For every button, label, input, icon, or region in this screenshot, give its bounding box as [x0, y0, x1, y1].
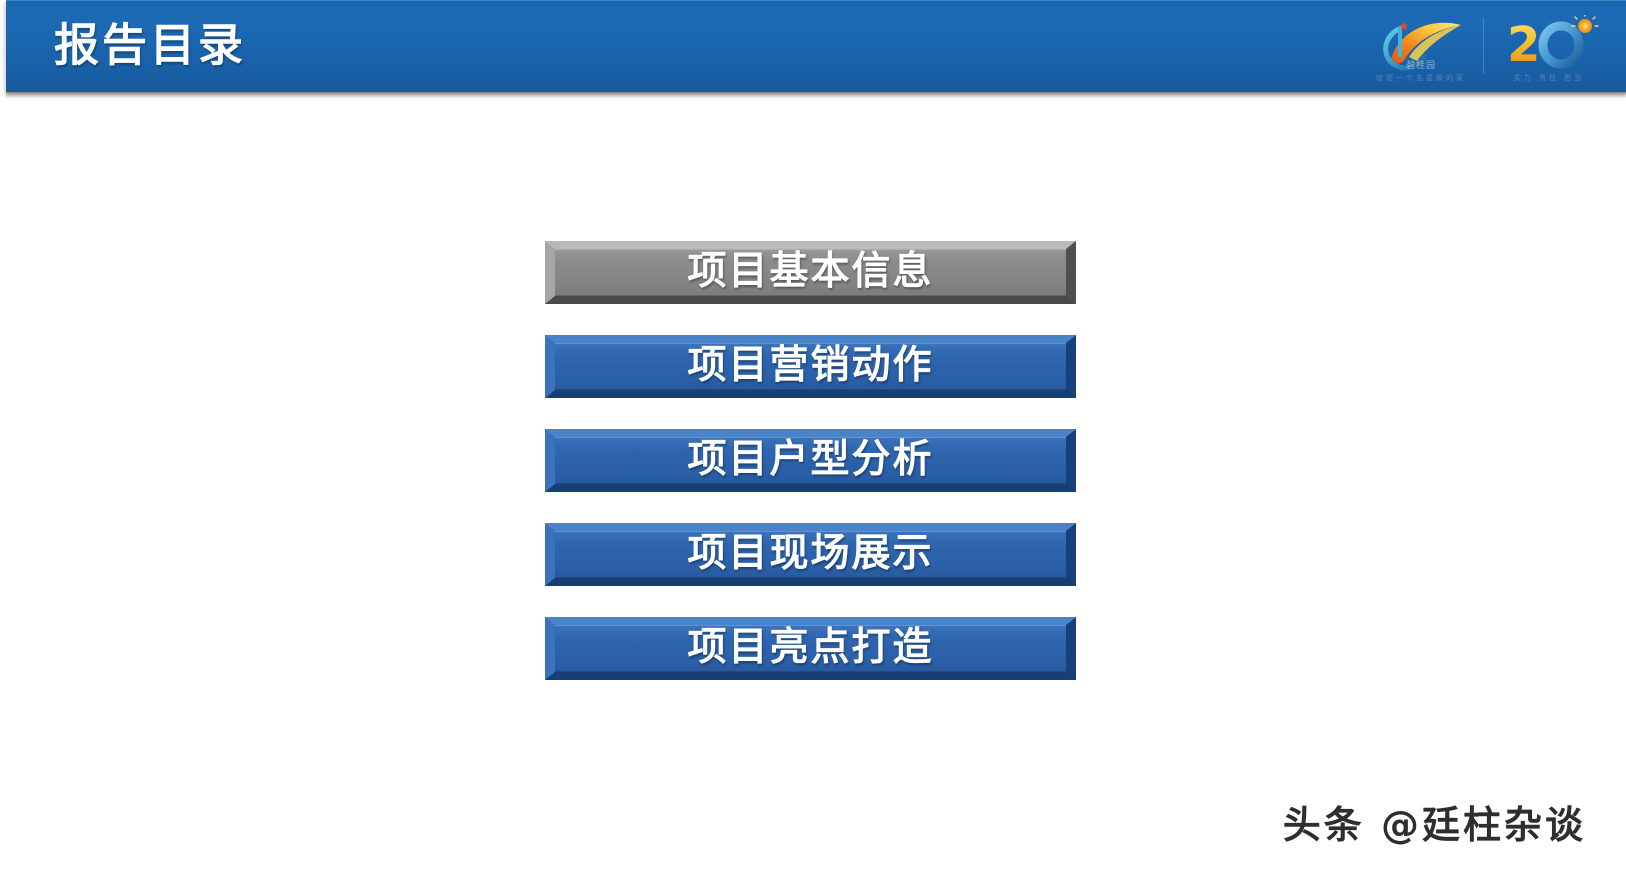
logo-divider	[1483, 18, 1484, 74]
anniversary-20-logo-subcaption: 实力 责任 担当	[1490, 73, 1608, 83]
logo-group: 碧桂园 给您一个五星级的家	[1365, 2, 1608, 90]
anniversary-20-logo-icon: 2	[1495, 15, 1603, 77]
menu-item-label: 项目基本信息	[687, 252, 933, 291]
watermark-text: 头条 @廷柱杂谈	[1283, 794, 1586, 849]
menu-item-project-site-display[interactable]: 项目现场展示	[545, 523, 1076, 586]
menu-item-label: 项目营销动作	[687, 346, 933, 385]
menu-item-label: 项目亮点打造	[687, 628, 933, 667]
header-drop-shadow	[6, 92, 1626, 98]
menu-item-project-highlights[interactable]: 项目亮点打造	[545, 617, 1076, 680]
menu-item-project-basic-info[interactable]: 项目基本信息	[545, 241, 1076, 304]
svg-text:2: 2	[1507, 17, 1540, 73]
country-garden-logo: 碧桂园 给您一个五星级的家	[1365, 3, 1477, 89]
slide-header-bar: 报告目录	[6, 0, 1626, 92]
menu-item-label: 项目现场展示	[687, 534, 933, 573]
agenda-menu-list: 项目基本信息 项目营销动作 项目户型分析 项目现场展示 项目亮点打造	[545, 241, 1076, 680]
page-title: 报告目录	[54, 23, 246, 68]
menu-item-label: 项目户型分析	[687, 440, 933, 479]
country-garden-logo-caption: 碧桂园	[1365, 58, 1477, 71]
anniversary-20-logo: 2 实力 责任 担当	[1490, 3, 1608, 89]
menu-item-project-unit-analysis[interactable]: 项目户型分析	[545, 429, 1076, 492]
slide-canvas: 报告目录	[0, 0, 1626, 887]
country-garden-logo-subcaption: 给您一个五星级的家	[1365, 73, 1477, 83]
menu-item-project-marketing-actions[interactable]: 项目营销动作	[545, 335, 1076, 398]
